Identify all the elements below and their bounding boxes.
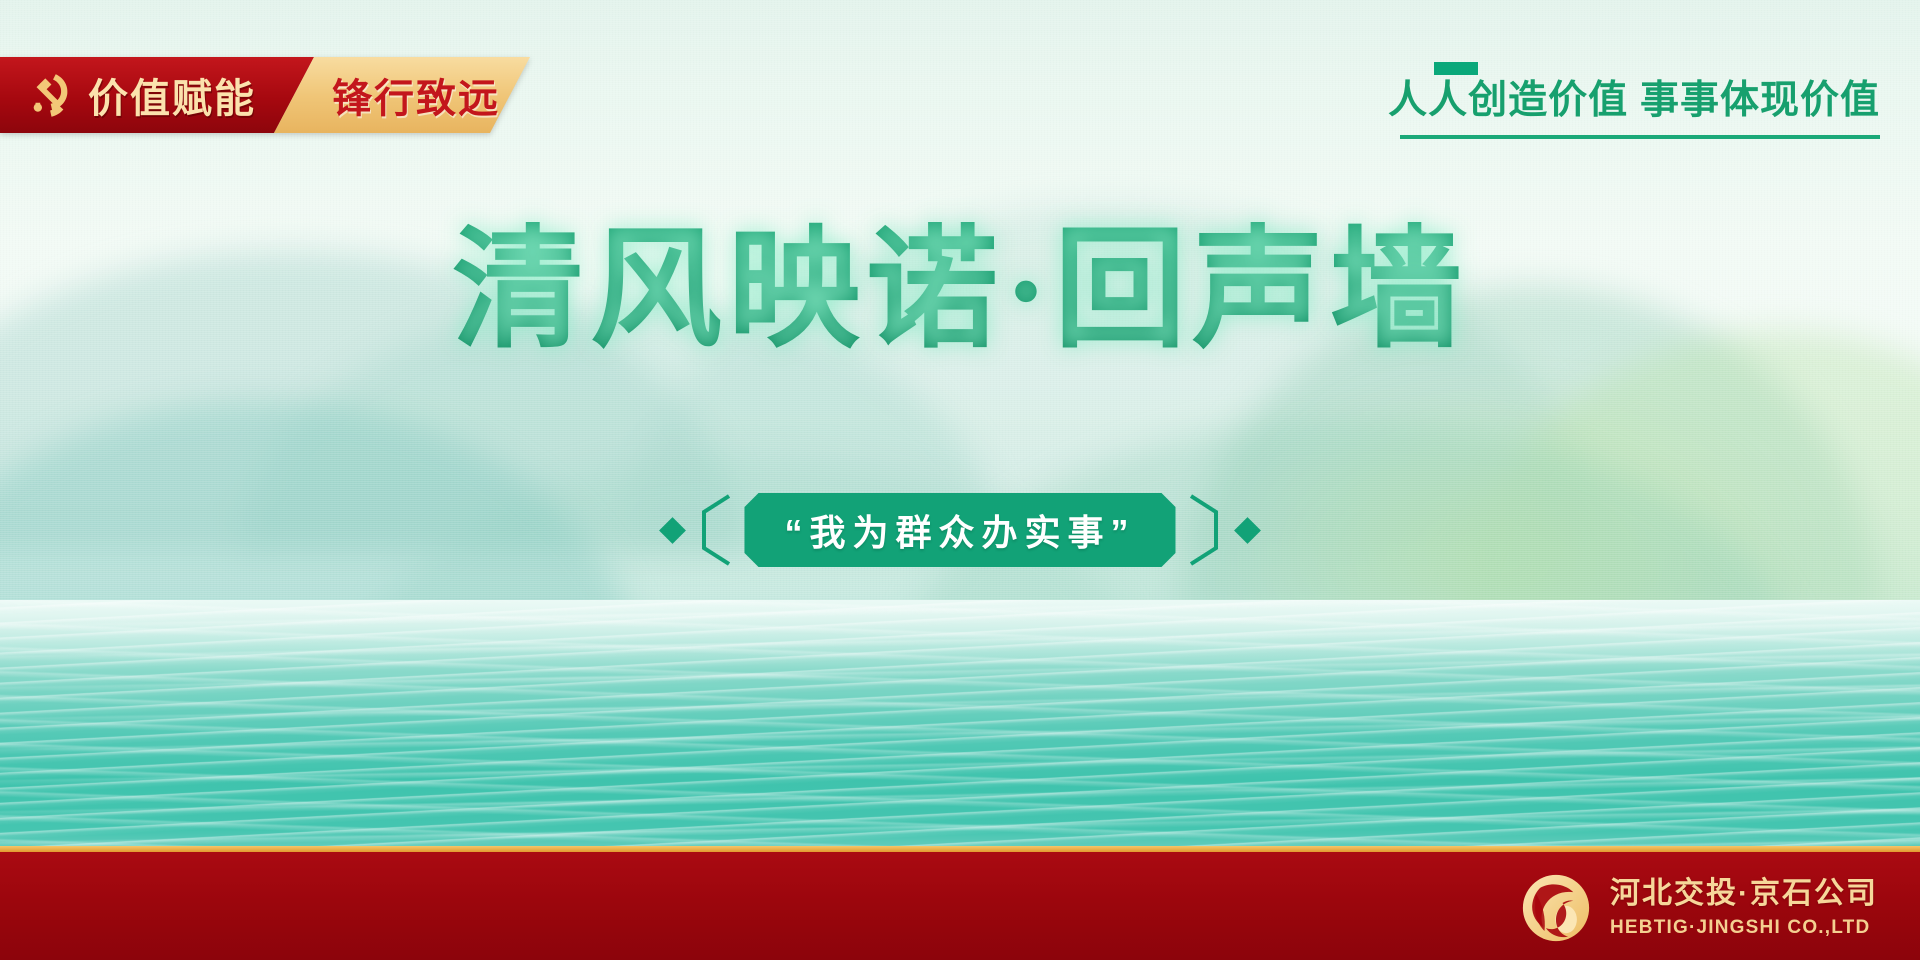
company-brand-text: 河北交投·京石公司 HEBTIG·JINGSHI CO.,LTD (1610, 879, 1878, 937)
water-surface (0, 600, 1920, 850)
company-brand: 河北交投·京石公司 HEBTIG·JINGSHI CO.,LTD (1520, 872, 1878, 944)
subtitle-badge: “我为群众办实事” (744, 493, 1175, 567)
ribbon-gold-segment: 锋行致远 (274, 57, 530, 133)
company-name-cn: 河北交投·京石公司 (1610, 879, 1878, 909)
party-hammer-sickle-icon (22, 69, 74, 121)
water-ripples-highlight (0, 600, 1920, 850)
subtitle-badge-row: “我为群众办实事” (0, 493, 1920, 567)
title-block: 清风映诺·回声墙 (0, 222, 1920, 361)
ribbon-gold-label: 锋行致远 (332, 66, 500, 124)
chevron-left-icon (696, 494, 730, 566)
ribbon-red-label: 价值赋能 (88, 66, 256, 124)
slogan-ribbon: 价值赋能 锋行致远 (0, 57, 530, 133)
subtitle-badge-label: “我为群众办实事” (784, 504, 1135, 556)
corporate-slogan: 人人创造价值 事事体现价值 (1388, 62, 1880, 139)
slogan-underline (1400, 135, 1880, 139)
diamond-icon (1234, 517, 1261, 544)
banner-canvas: 价值赋能 锋行致远 人人创造价值 事事体现价值 清风映诺·回声墙 “我为群众办实… (0, 0, 1920, 960)
slogan-tick-mark (1434, 62, 1478, 75)
company-name-en: HEBTIG·JINGSHI CO.,LTD (1610, 918, 1878, 937)
chevron-right-icon (1190, 494, 1224, 566)
slogan-text: 人人创造价值 事事体现价值 (1388, 79, 1880, 123)
diamond-icon (660, 517, 687, 544)
ribbon-red-segment: 价值赋能 (0, 57, 314, 133)
hebtig-jingshi-logo-icon (1520, 872, 1592, 944)
page-title: 清风映诺·回声墙 (452, 222, 1468, 361)
